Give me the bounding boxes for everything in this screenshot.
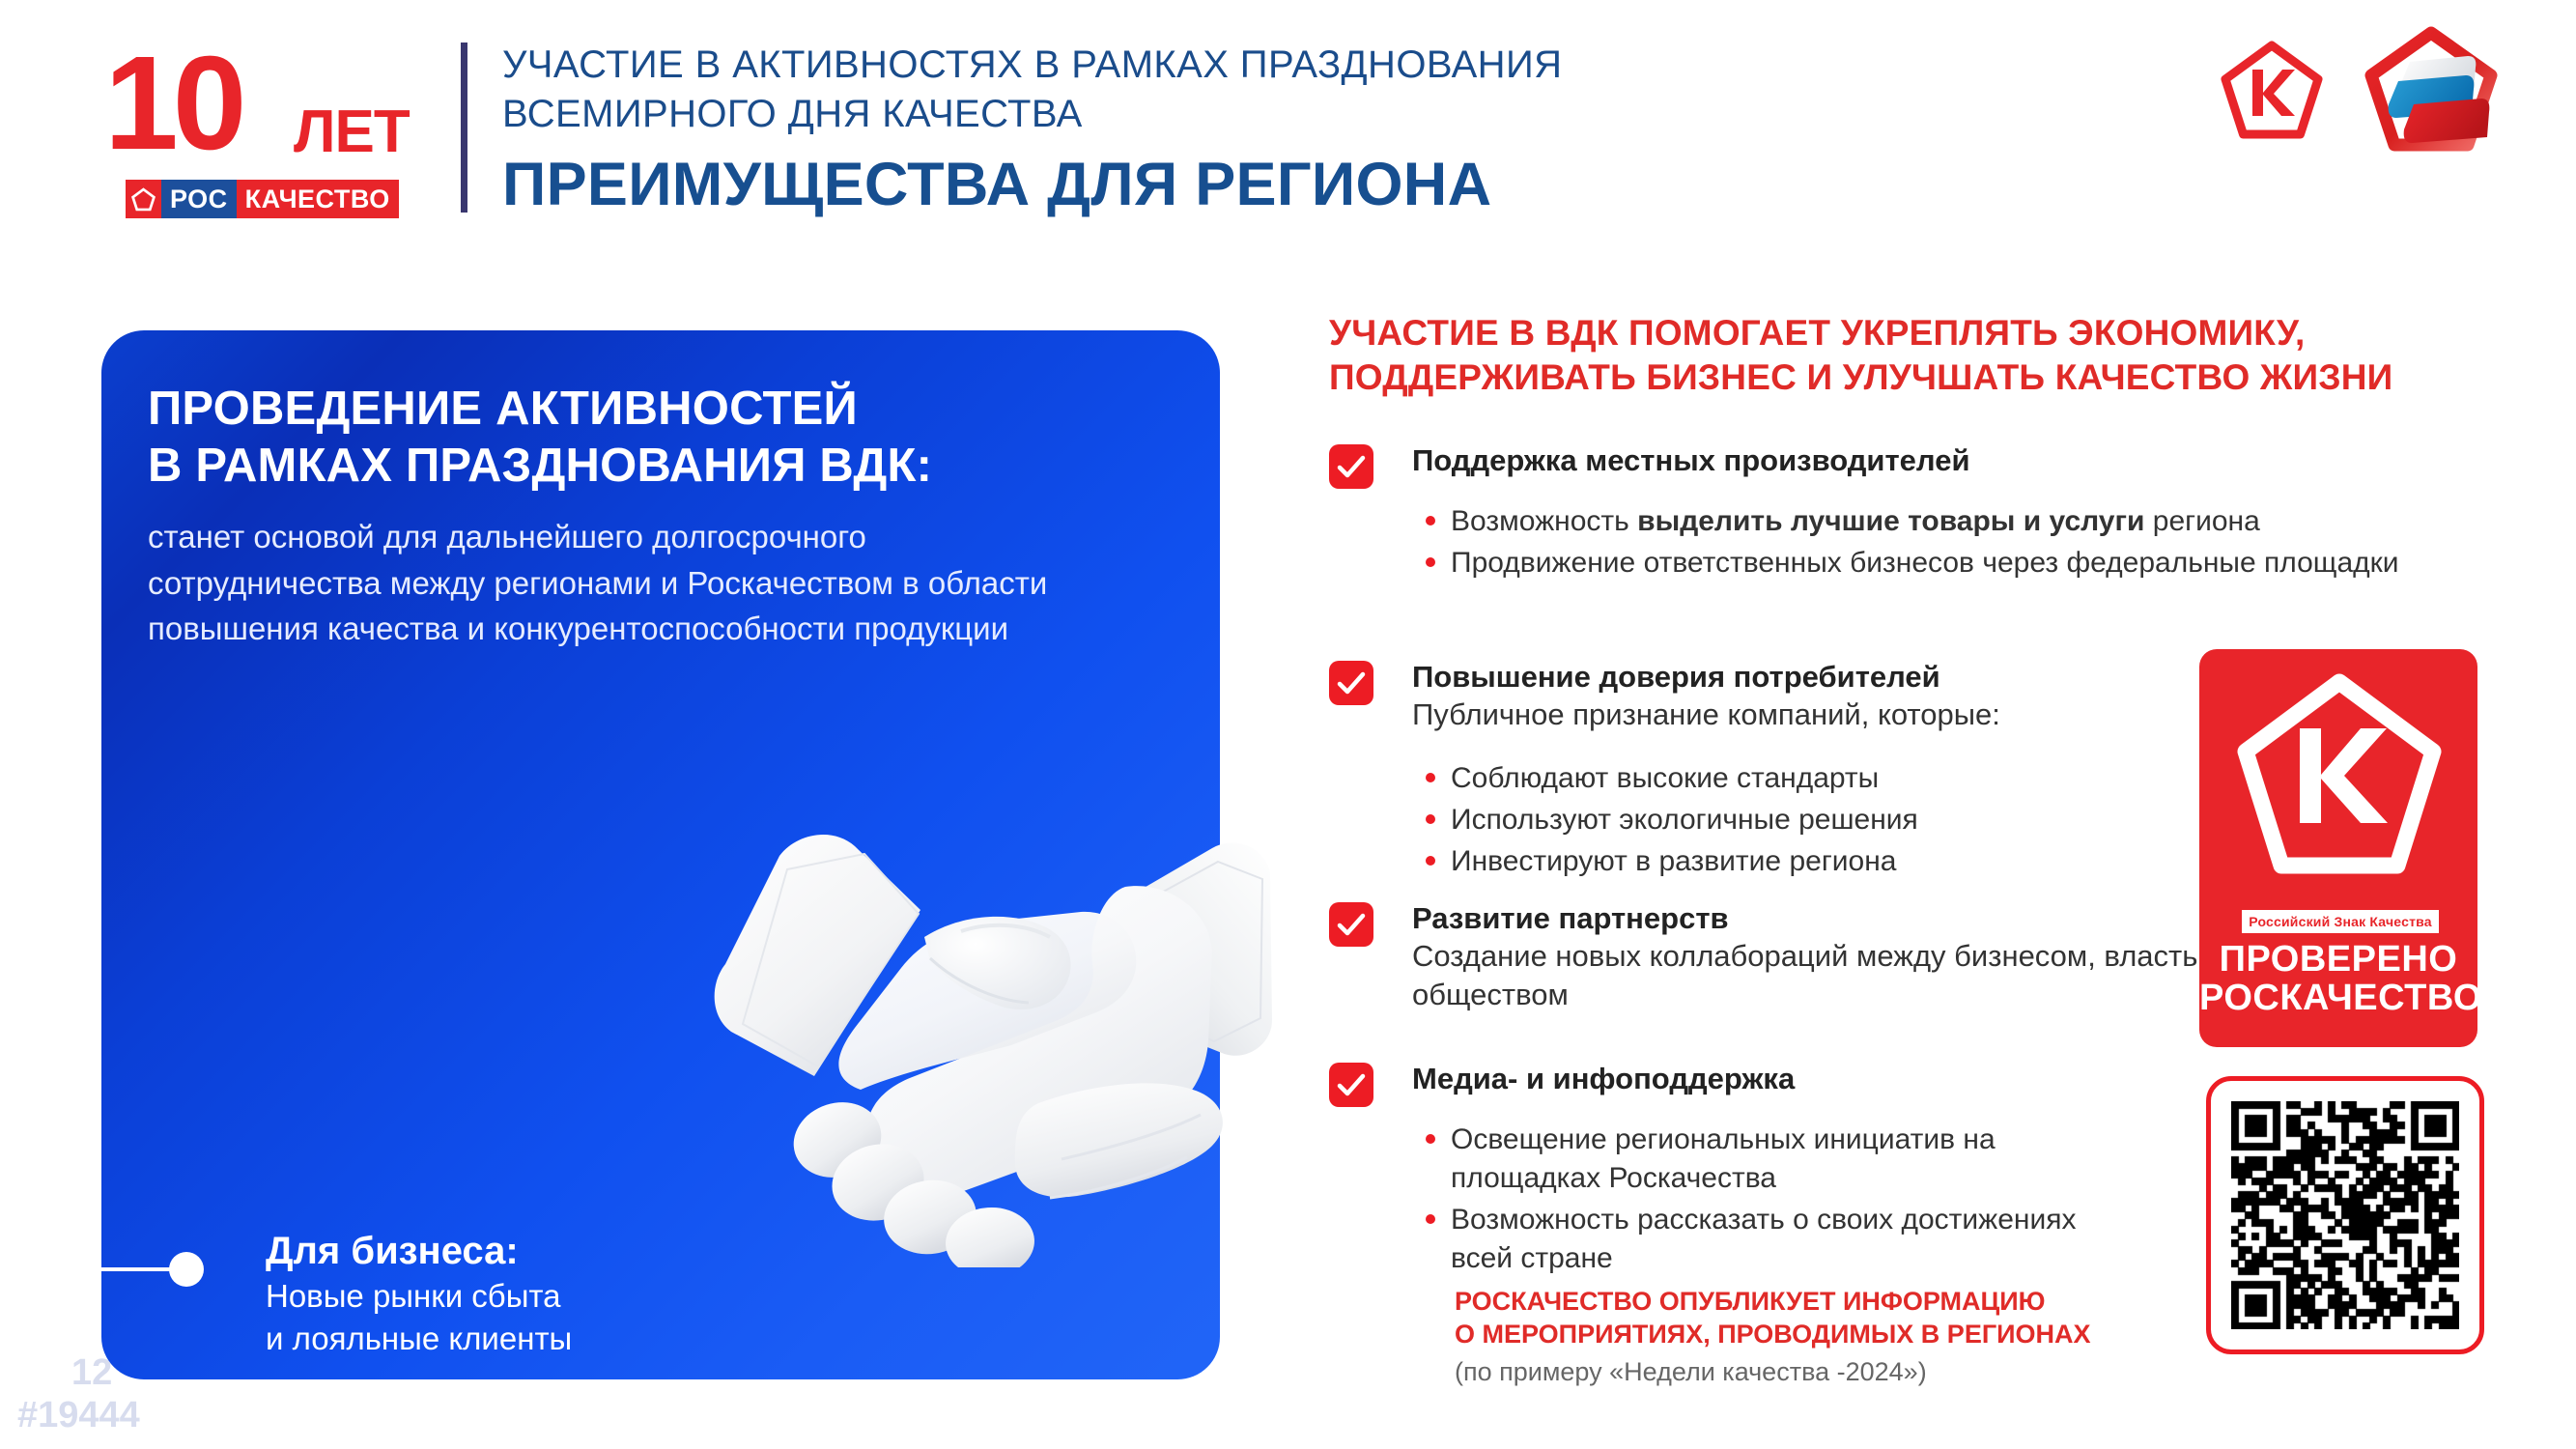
header-subtitle-line1: УЧАСТИЕ В АКТИВНОСТЯХ В РАМКАХ ПРАЗДНОВА…	[502, 41, 2048, 90]
benefit-block-title: Развитие партнерств	[1412, 900, 1729, 938]
benefit-text: Новые рынки сбытаи лояльные клиенты	[266, 1275, 749, 1360]
handshake-illustration	[671, 813, 1289, 1267]
check-icon	[1329, 1063, 1373, 1107]
right-heading-line1: УЧАСТИЕ В ВДК ПОМОГАЕТ УКРЕПЛЯТЬ ЭКОНОМИ…	[1329, 311, 2517, 355]
qr-code-container[interactable]	[2206, 1076, 2484, 1354]
logo-kachestvo-label: КАЧЕСТВО	[237, 180, 399, 218]
logo-years-label: ЛЕТ	[294, 102, 410, 162]
qr-code[interactable]	[2231, 1101, 2459, 1329]
note-small: (по примеру «Недели качества -2024»)	[1455, 1355, 2324, 1389]
pentagon-k-mark-icon	[2232, 668, 2447, 883]
logo-number: 10	[104, 37, 241, 170]
check-icon	[1329, 444, 1373, 489]
benefit-bullet-list: Возможность выделить лучшие товары и усл…	[1412, 502, 2465, 585]
logo-ros-label: РОС	[161, 180, 237, 218]
roskachestvo-wordmark: РОС КАЧЕСТВО	[126, 180, 399, 218]
header-subtitle-line2: ВСЕМИРНОГО ДНЯ КАЧЕСТВА	[502, 90, 2048, 139]
benefit-bullet-list: Освещение региональных инициатив на площ…	[1412, 1121, 2079, 1281]
bullet-dot-icon	[169, 1252, 204, 1287]
badge-line2: РОСКАЧЕСТВОМ	[2199, 980, 2477, 1016]
header-divider	[461, 43, 467, 213]
badge-line1: ПРОВЕРЕНО	[2199, 941, 2477, 978]
activities-panel-title: ПРОВЕДЕНИЕ АКТИВНОСТЕЙ В РАМКАХ ПРАЗДНОВ…	[148, 381, 1172, 495]
list-item: Продвижение ответственных бизнесов через…	[1412, 544, 2465, 582]
activities-panel-title-line1: ПРОВЕДЕНИЕ АКТИВНОСТЕЙ	[148, 381, 1172, 438]
slide-id: #19444	[17, 1395, 140, 1436]
benefit-block-title: Поддержка местных производителей	[1412, 442, 1970, 480]
list-item: Возможность рассказать о своих достижени…	[1412, 1201, 2079, 1278]
header-subtitle: УЧАСТИЕ В АКТИВНОСТЯХ В РАМКАХ ПРАЗДНОВА…	[502, 41, 2048, 139]
right-heading-line2: ПОДДЕРЖИВАТЬ БИЗНЕС И УЛУЧШАТЬ КАЧЕСТВО …	[1329, 355, 2517, 400]
note-line1: РОСКАЧЕСТВО ОПУБЛИКУЕТ ИНФОРМАЦИЮ	[1455, 1285, 2324, 1318]
list-item: Возможность выделить лучшие товары и усл…	[1412, 502, 2465, 541]
anniversary-logo: 10 ЛЕТ РОС КАЧЕСТВО	[104, 37, 423, 201]
benefit-block-subtitle: Создание новых коллабораций между бизнес…	[1412, 937, 2252, 1015]
right-column-heading: УЧАСТИЕ В ВДК ПОМОГАЕТ УКРЕПЛЯТЬ ЭКОНОМИ…	[1329, 311, 2517, 401]
benefit-block-title: Повышение доверия потребителей	[1412, 659, 1940, 696]
check-icon	[1329, 661, 1373, 705]
list-item: Освещение региональных инициатив на площ…	[1412, 1121, 2079, 1198]
pentagon-icon	[126, 180, 161, 218]
badge-ribbon-label: Российский Знак Качества	[2242, 910, 2439, 933]
page-number: 12	[71, 1352, 112, 1394]
quality-mark-badge: Российский Знак Качества ПРОВЕРЕНО РОСКА…	[2199, 649, 2477, 1047]
connector-line	[101, 1267, 176, 1271]
note-line2: О МЕРОПРИЯТИЯХ, ПРОВОДИМЫХ В РЕГИОНАХ	[1455, 1318, 2324, 1350]
page-title: ПРЕИМУЩЕСТВА ДЛЯ РЕГИОНА	[502, 153, 2144, 216]
pentagon-k-icon	[2219, 39, 2325, 145]
publication-note: РОСКАЧЕСТВО ОПУБЛИКУЕТ ИНФОРМАЦИЮ О МЕРО…	[1455, 1285, 2324, 1389]
russian-flag-pentagon-icon	[2354, 21, 2508, 161]
benefit-block-title: Медиа- и инфоподдержка	[1412, 1061, 1795, 1098]
activities-panel-lead: станет основой для дальнейшего долгосроч…	[148, 514, 1104, 652]
check-icon	[1329, 902, 1373, 947]
slide-header: 10 ЛЕТ РОС КАЧЕСТВО УЧАСТИЕ В АКТИВНОСТЯ…	[0, 0, 2576, 251]
activities-panel-title-line2: В РАМКАХ ПРАЗДНОВАНИЯ ВДК:	[148, 438, 1172, 495]
benefit-title: Для бизнеса:	[266, 1229, 519, 1273]
